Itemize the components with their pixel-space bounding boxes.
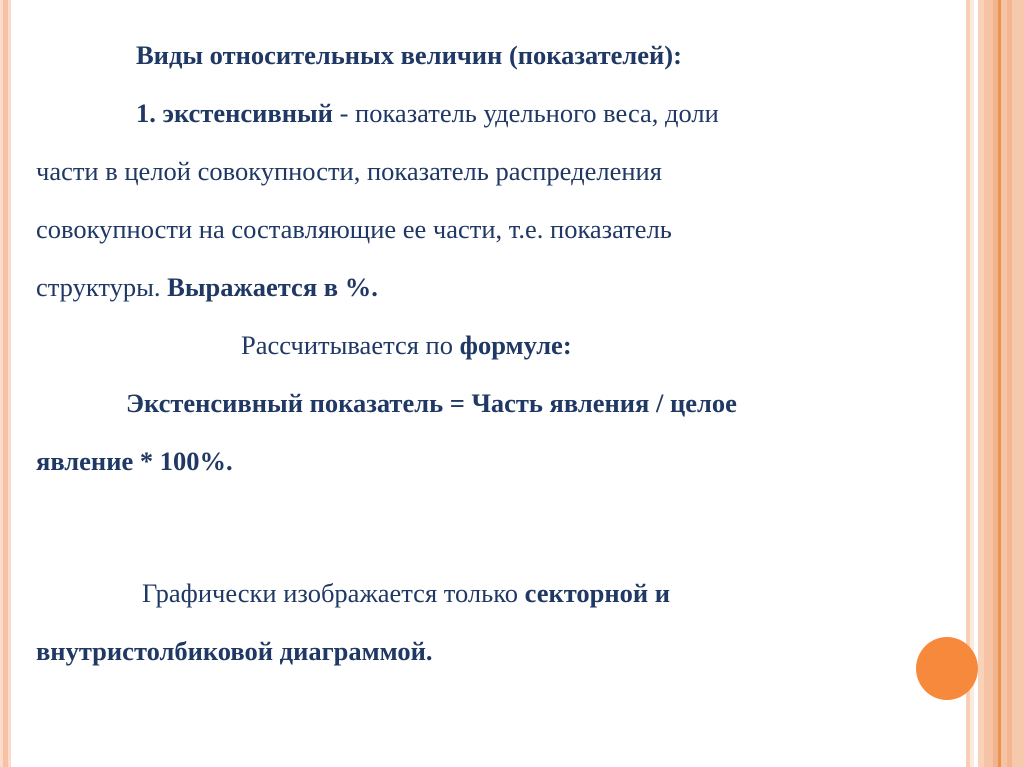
formula-intro-emphasis: формуле: xyxy=(460,330,572,360)
decorative-stripe-right-9 xyxy=(1012,0,1024,767)
body-line-5-emphasis: Выражается в %. xyxy=(167,272,378,302)
graphic-note-line-2-text: внутристолбиковой диаграммой. xyxy=(36,636,433,666)
decorative-stripe-left-3 xyxy=(8,0,11,767)
formula-intro-line: Рассчитывается по формуле: xyxy=(36,316,936,374)
body-line-5-prefix: структуры. xyxy=(36,272,167,302)
decorative-stripe-right-4 xyxy=(984,0,993,767)
graphic-note-emphasis: секторной и xyxy=(525,578,670,608)
graphic-note-line-1: Графически изображается только секторной… xyxy=(36,564,936,622)
vertical-spacer xyxy=(36,490,936,564)
body-line-4: совокупности на составляющие ее части, т… xyxy=(36,200,936,258)
slide-title-text: Виды относительных величин (показателей)… xyxy=(136,40,682,70)
body-line-3: части в целой совокупности, показатель р… xyxy=(36,142,936,200)
formula-intro-prefix: Рассчитывается по xyxy=(241,330,460,360)
slide-title: Виды относительных величин (показателей)… xyxy=(36,26,936,84)
formula-line-1-text: Экстенсивный показатель = Часть явления … xyxy=(126,388,737,418)
slide-text-body: Виды относительных величин (показателей)… xyxy=(36,26,936,680)
formula-line-1: Экстенсивный показатель = Часть явления … xyxy=(36,374,936,432)
body-line-4-text: совокупности на составляющие ее части, т… xyxy=(36,214,672,244)
bullet-label-extensive: 1. экстенсивный xyxy=(136,98,333,128)
formula-line-2: явление * 100%. xyxy=(36,432,936,490)
graphic-note-line-2: внутристолбиковой диаграммой. xyxy=(36,622,936,680)
body-line-5: структуры. Выражается в %. xyxy=(36,258,936,316)
formula-line-2-text: явление * 100%. xyxy=(36,446,233,476)
presentation-slide: Виды относительных величин (показателей)… xyxy=(0,0,1024,767)
bullet-text-extensive: - показатель удельного веса, доли xyxy=(333,98,719,128)
body-line-3-text: части в целой совокупности, показатель р… xyxy=(36,156,662,186)
bullet-line-extensive: 1. экстенсивный - показатель удельного в… xyxy=(36,84,936,142)
graphic-note-prefix: Графически изображается только xyxy=(142,578,525,608)
